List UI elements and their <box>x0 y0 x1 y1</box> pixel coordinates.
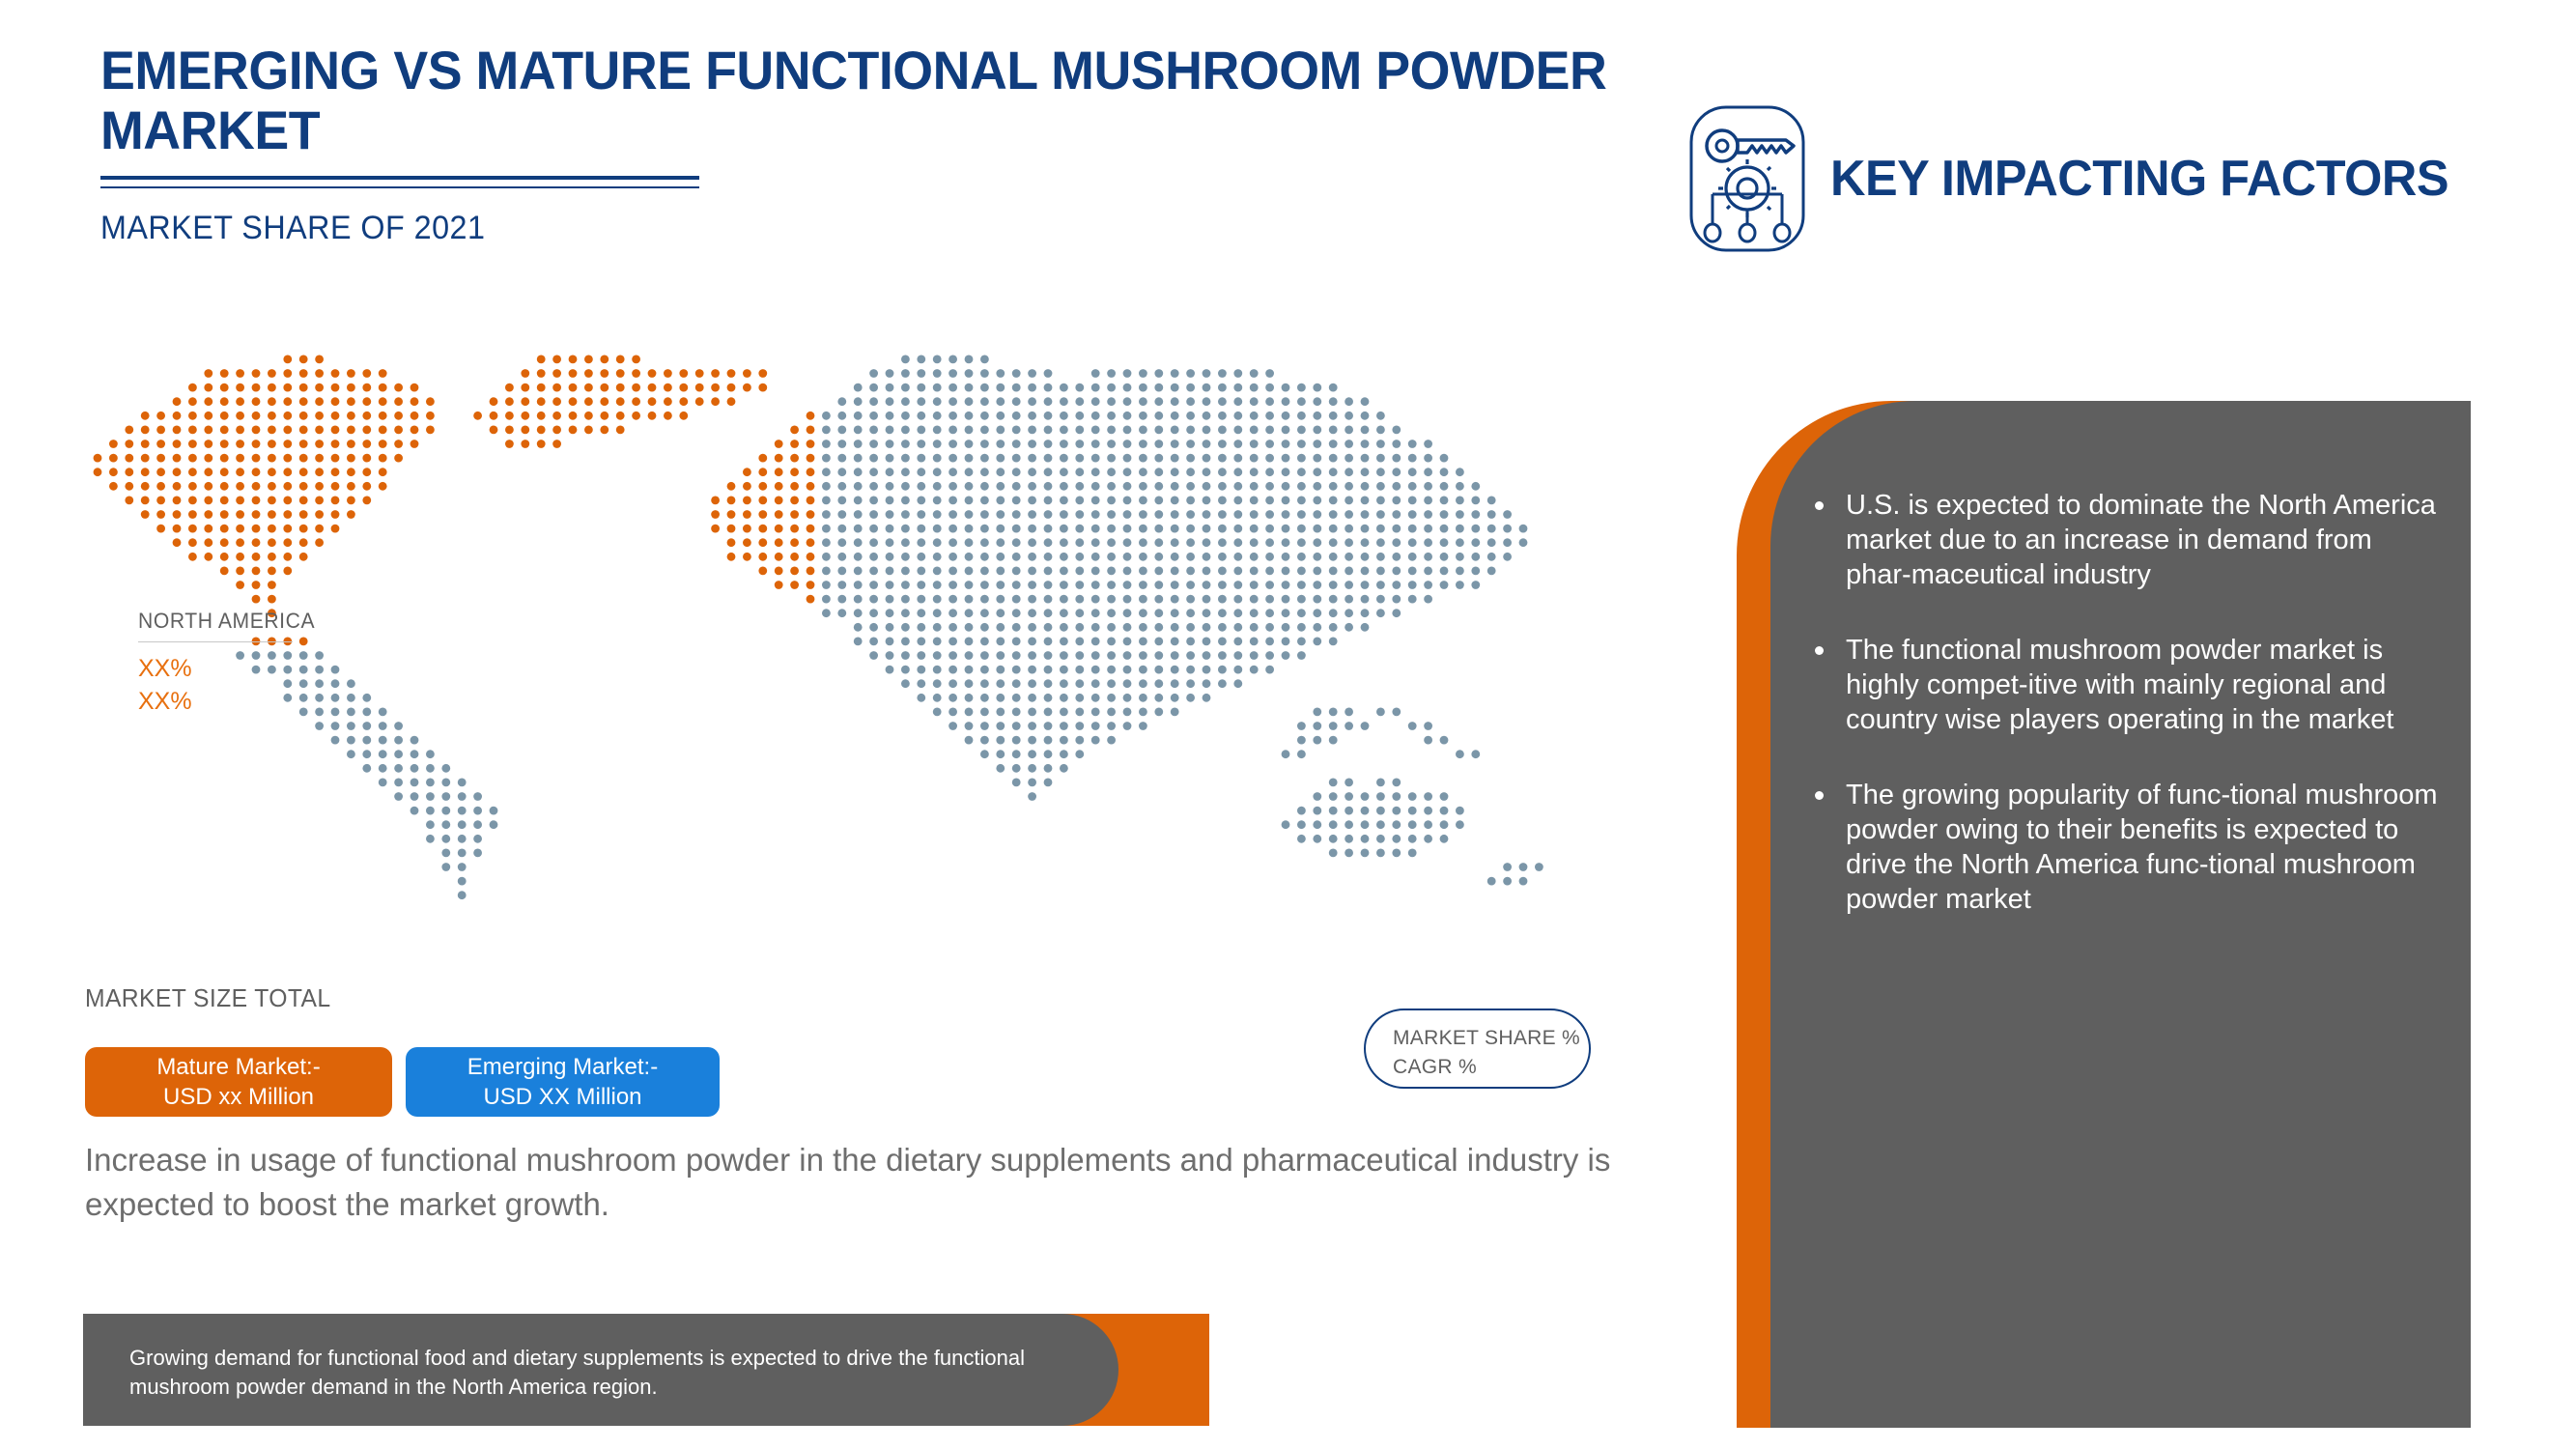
key-factors-header: KEY IMPACTING FACTORS <box>1685 101 2468 256</box>
bottom-banner-text: Growing demand for functional food and d… <box>129 1344 1076 1402</box>
key-factors-title: KEY IMPACTING FACTORS <box>1830 152 2449 206</box>
key-factors-list: U.S. is expected to dominate the North A… <box>1809 488 2442 957</box>
page-subtitle: MARKET SHARE OF 2021 <box>100 210 1660 247</box>
list-item: The functional mushroom powder market is… <box>1809 633 2442 737</box>
region-callout-north-america: NORTH AMERICA XX% XX% <box>138 609 389 718</box>
emerging-market-line1: Emerging Market:- <box>467 1052 658 1082</box>
emerging-market-button[interactable]: Emerging Market:- USD XX Million <box>406 1047 720 1117</box>
title-divider-line-1 <box>100 176 699 180</box>
emerging-market-line2: USD XX Million <box>483 1082 641 1112</box>
mature-market-line2: USD xx Million <box>163 1082 314 1112</box>
legend-market-share: MARKET SHARE % <box>1393 1024 1589 1053</box>
legend-cagr: CAGR % <box>1393 1053 1589 1082</box>
region-market-share: XX% <box>138 652 389 685</box>
mature-market-button[interactable]: Mature Market:- USD xx Million <box>85 1047 392 1117</box>
market-size-total-label: MARKET SIZE TOTAL <box>85 983 330 1013</box>
lead-text: Increase in usage of functional mushroom… <box>85 1138 1727 1227</box>
title-divider <box>100 176 699 188</box>
list-item: The growing popularity of func-tional mu… <box>1809 778 2442 917</box>
mature-market-line1: Mature Market:- <box>156 1052 320 1082</box>
map-legend: MARKET SHARE % CAGR % <box>1364 1009 1591 1089</box>
title-block: EMERGING VS MATURE FUNCTIONAL MUSHROOM P… <box>100 41 1742 247</box>
region-name: NORTH AMERICA <box>138 609 380 634</box>
page-title: EMERGING VS MATURE FUNCTIONAL MUSHROOM P… <box>100 41 1640 160</box>
list-item: U.S. is expected to dominate the North A… <box>1809 488 2442 592</box>
region-cagr: XX% <box>138 685 389 718</box>
region-divider <box>138 641 293 642</box>
title-divider-line-2 <box>100 186 699 188</box>
infographic-root: EMERGING VS MATURE FUNCTIONAL MUSHROOM P… <box>0 0 2576 1449</box>
key-gear-network-icon <box>1685 101 1809 256</box>
